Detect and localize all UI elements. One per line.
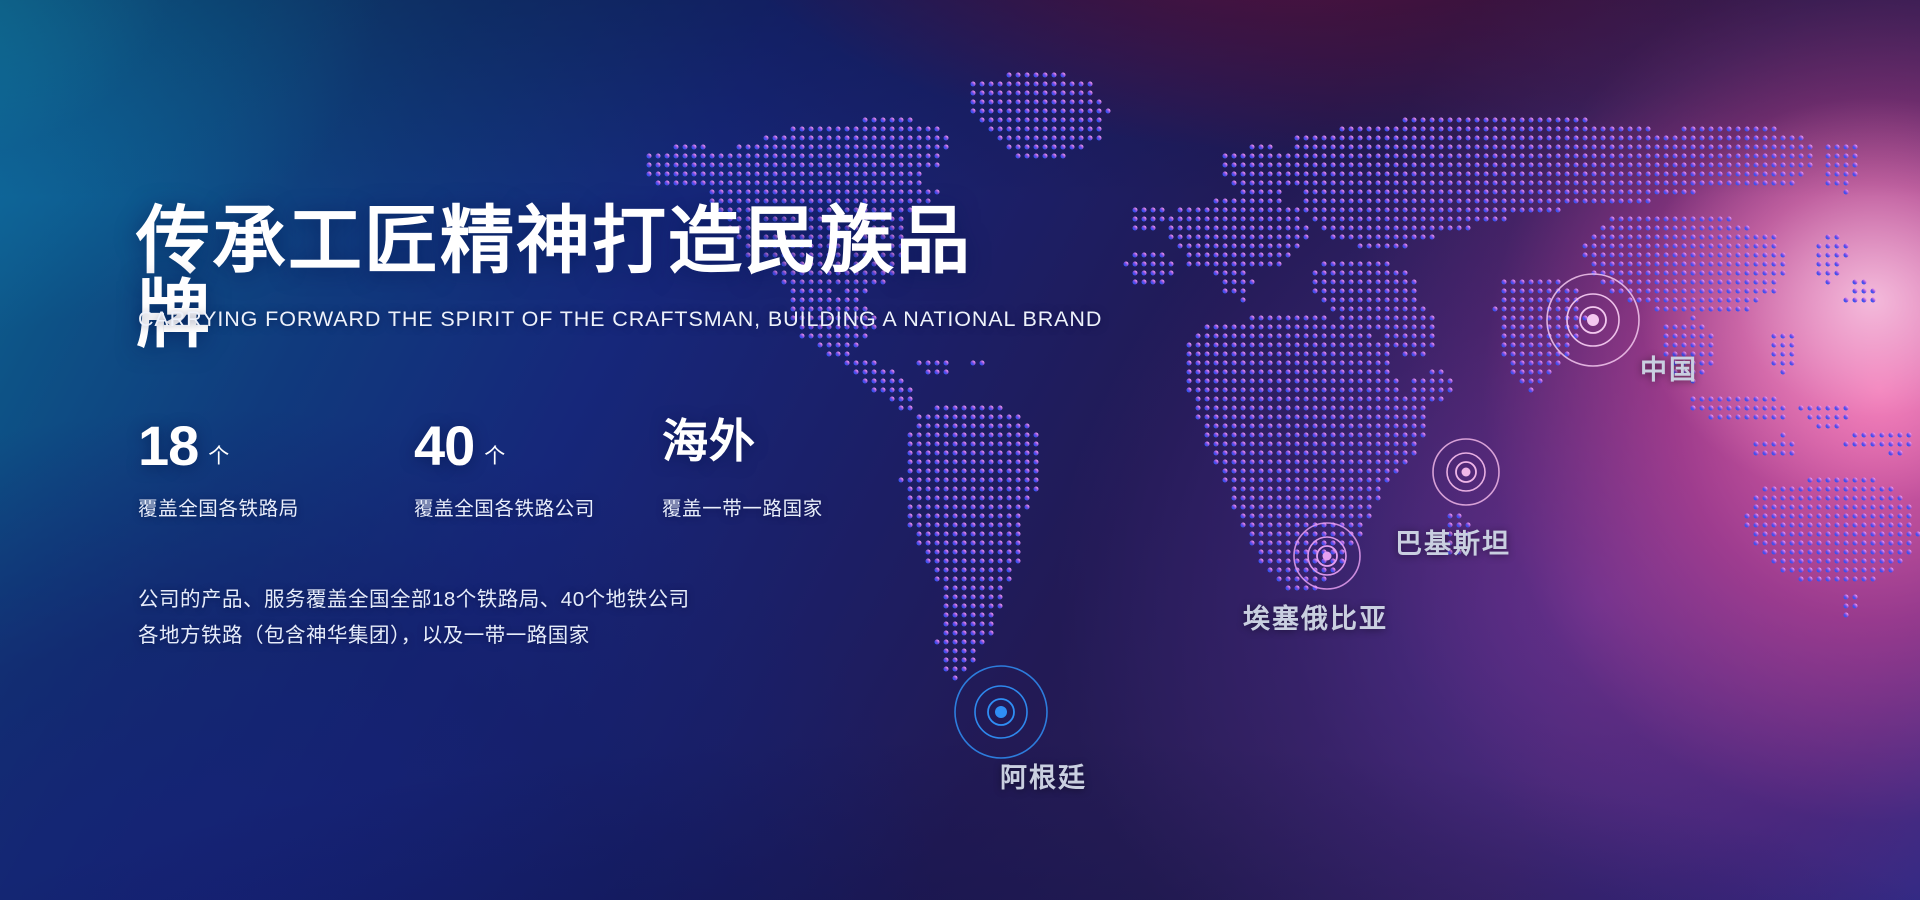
map-marker-china[interactable] [1541,268,1645,372]
hero-content: 传承工匠精神打造民族品牌 CARRYING FORWARD THE SPIRIT… [136,0,1016,900]
description-paragraph: 公司的产品、服务覆盖全国全部18个铁路局、40个地铁公司 各地方铁路（包含神华集… [138,582,690,654]
stat-unit: 个 [208,440,229,470]
stat-value: 海外 [662,418,756,464]
stat-value-group: 海外 [662,418,902,480]
map-marker-label-pakistan: 巴基斯坦 [1395,522,1511,561]
stat-description: 覆盖全国各铁路公司 [414,492,662,521]
map-marker-label-china: 中国 [1640,348,1698,387]
pulse-ring-icon [1427,433,1505,511]
paragraph-line: 公司的产品、服务覆盖全国全部18个铁路局、40个地铁公司 [138,582,690,618]
pulse-ring-icon [1288,517,1366,595]
map-marker-pakistan[interactable] [1427,433,1505,511]
map-marker-label-ethiopia: 埃塞俄比亚 [1243,597,1388,636]
stat-item-railway-companies: 40 个 覆盖全国各铁路公司 [414,418,662,521]
stat-unit: 个 [484,440,505,470]
stat-value-group: 40 个 [414,418,662,480]
pulse-ring-icon [1541,268,1645,372]
stat-value-group: 18 个 [138,418,414,480]
stat-item-overseas: 海外 覆盖一带一路国家 [662,418,902,521]
paragraph-line: 各地方铁路（包含神华集团），以及一带一路国家 [138,618,690,654]
stats-row: 18 个 覆盖全国各铁路局 40 个 覆盖全国各铁路公司 海外 覆盖一带一路国家 [138,418,902,521]
map-marker-ethiopia[interactable] [1288,517,1366,595]
hero-banner: 中国巴基斯坦埃塞俄比亚阿根廷 传承工匠精神打造民族品牌 CARRYING FOR… [0,0,1920,900]
stat-value: 40 [414,418,474,474]
stat-description: 覆盖全国各铁路局 [138,492,414,521]
stat-description: 覆盖一带一路国家 [662,492,902,521]
page-subtitle: CARRYING FORWARD THE SPIRIT OF THE CRAFT… [138,307,1102,332]
stat-value: 18 [138,418,198,474]
stat-item-railway-bureaus: 18 个 覆盖全国各铁路局 [138,418,414,521]
